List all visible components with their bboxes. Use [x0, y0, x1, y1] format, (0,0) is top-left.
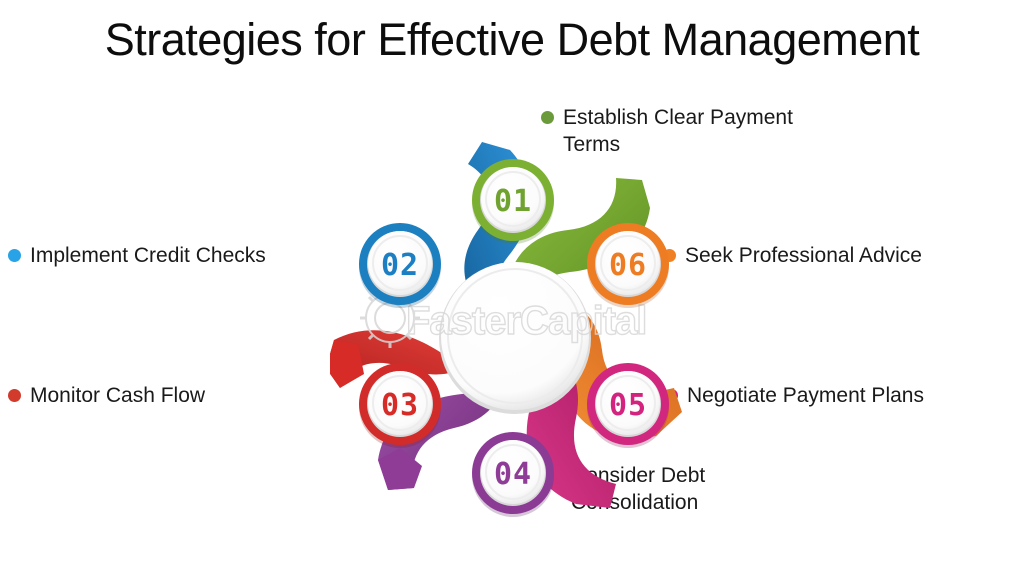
callout-label-05: Negotiate Payment Plans [687, 382, 924, 409]
callout-label-02: Implement Credit Checks [30, 242, 266, 269]
badge-02[interactable]: 02 [359, 223, 441, 308]
badge-06[interactable]: 06 [587, 223, 669, 308]
badge-01[interactable]: 01 [472, 159, 554, 244]
slide-canvas: Strategies for Effective Debt Management… [0, 0, 1024, 576]
badge-number-02: 02 [381, 248, 419, 283]
badge-number-05: 05 [609, 388, 647, 423]
callout-label-06: Seek Professional Advice [685, 242, 922, 269]
badge-05[interactable]: 05 [587, 363, 669, 448]
badge-number-03: 03 [381, 388, 419, 423]
callout-03[interactable]: Monitor Cash Flow [8, 382, 338, 409]
callout-05[interactable]: Negotiate Payment Plans [665, 382, 1005, 409]
badge-03[interactable]: 03 [359, 363, 441, 448]
callout-06[interactable]: Seek Professional Advice [663, 242, 1003, 269]
callout-label-03: Monitor Cash Flow [30, 382, 205, 409]
bullet-dot-02 [8, 249, 21, 262]
badge-number-01: 01 [494, 184, 532, 219]
badge-number-04: 04 [494, 457, 532, 492]
page-title: Strategies for Effective Debt Management [0, 14, 1024, 66]
bullet-dot-01 [541, 111, 554, 124]
pinwheel-diagram: FasterCapital 01 02 [330, 136, 700, 526]
badge-04[interactable]: 04 [472, 432, 554, 517]
watermark-text: FasterCapital [406, 299, 646, 343]
bullet-dot-03 [8, 389, 21, 402]
callout-02[interactable]: Implement Credit Checks [8, 242, 338, 269]
badge-number-06: 06 [609, 248, 647, 283]
